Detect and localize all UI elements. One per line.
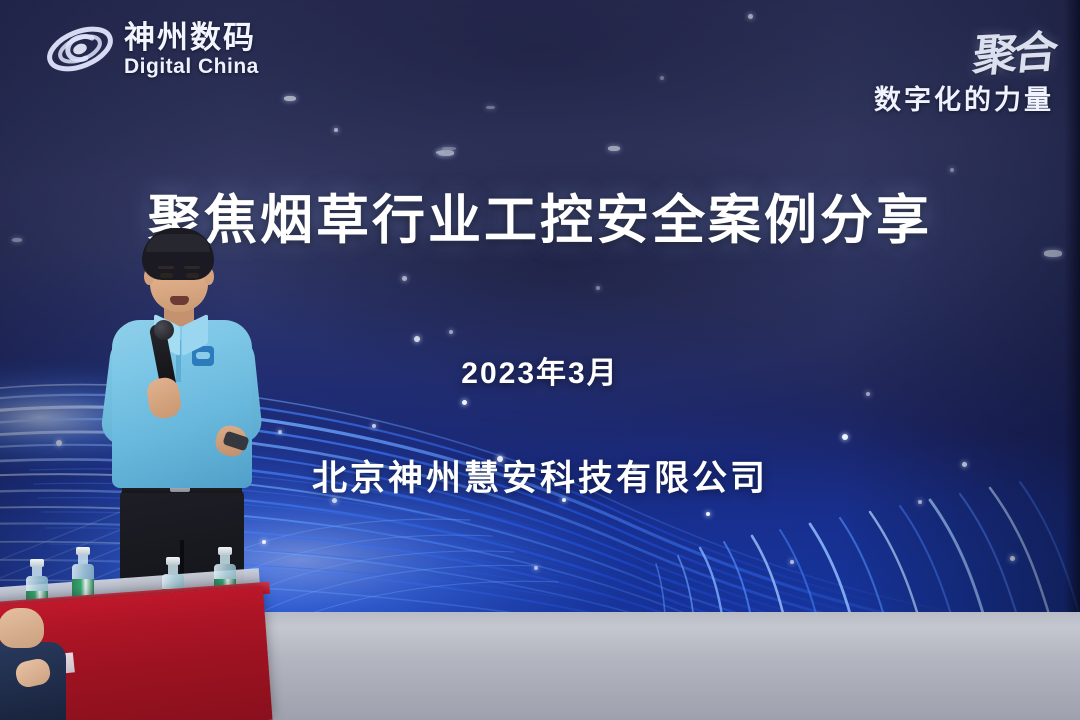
spiral-galaxy-mark-icon — [44, 18, 116, 80]
presenter-mouth — [170, 296, 189, 305]
digital-china-wordmark: 神州数码 Digital China — [124, 22, 259, 77]
presenter-eye-right — [186, 273, 199, 278]
event-calligraphy-wrap: 聚合 — [874, 18, 1054, 82]
bottle-cap — [76, 547, 90, 555]
screen-right-edge — [1064, 0, 1080, 645]
brand-name-english: Digital China — [124, 56, 259, 77]
presenter-eyebrow-right — [184, 266, 200, 269]
event-logo: 聚合 数字化的力量 — [874, 18, 1054, 117]
brand-name-chinese: 神州数码 — [124, 22, 259, 53]
bottle-cap — [166, 557, 180, 565]
conference-stage-photo: 神州数码 Digital China 聚合 数字化的力量 聚焦烟草行业工控安全案… — [0, 0, 1080, 720]
attendee-head — [0, 608, 44, 648]
presenter-hair — [142, 228, 214, 280]
event-tagline: 数字化的力量 — [874, 78, 1054, 117]
bottle-cap — [218, 547, 232, 555]
bottle-cap — [30, 559, 44, 567]
event-calligraphy: 聚合 — [970, 16, 1057, 84]
digital-china-logo: 神州数码 Digital China — [44, 18, 259, 80]
presenter-eye-left — [160, 273, 173, 278]
audience-member-left — [0, 608, 68, 720]
presenter-eyebrow-left — [158, 266, 174, 269]
